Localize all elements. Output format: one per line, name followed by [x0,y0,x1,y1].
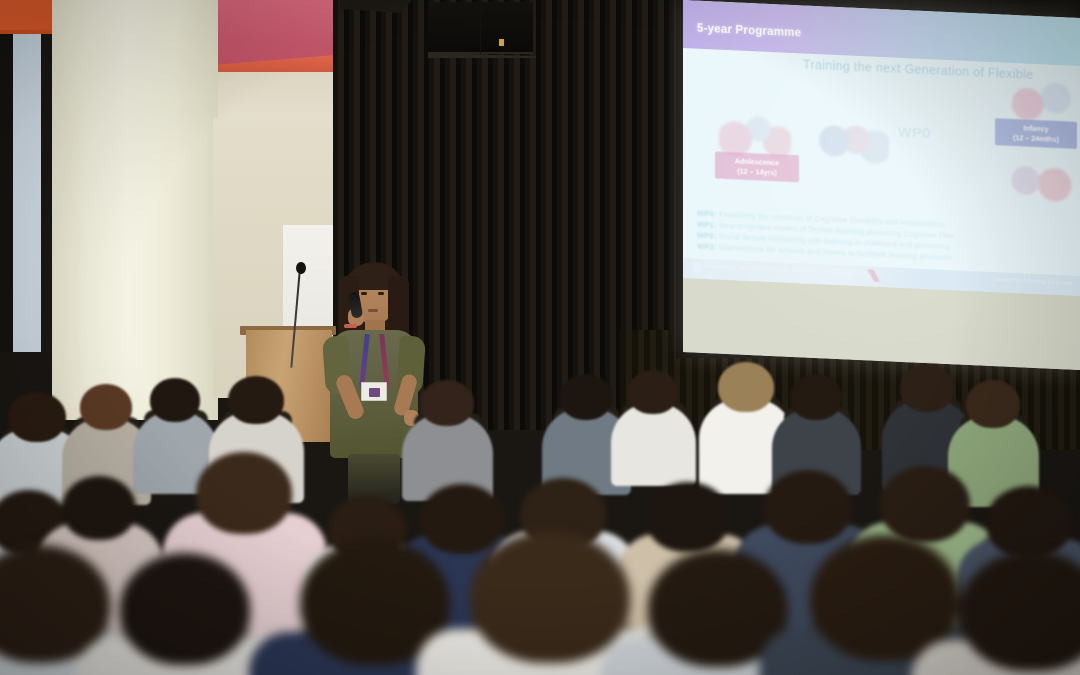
audience-member-head [560,374,612,420]
audience-member-head [80,384,132,430]
presenter-eye [378,292,384,295]
audience-member-head [228,376,284,424]
presenter-bracelet [344,324,357,328]
ceiling-speaker [481,2,533,54]
audience-member-head [718,362,774,412]
audience-member-head [966,380,1020,428]
audience-member-head [150,378,200,422]
audience-member-head [420,380,474,426]
badge-line-2: (12 – 14yrs) [721,165,793,178]
audience-member-head [628,370,678,414]
audience-member-head [900,364,954,412]
clipart-children [811,114,889,170]
clipart-infancy-bottom [1003,155,1079,206]
audience-member-head [960,551,1080,671]
slide-badge-infancy: Infancy (12 – 24mths) [995,118,1077,149]
projection-screen: 5-year Programme Training the next Gener… [683,0,1080,370]
window-mullion [0,28,13,352]
wp-tag: WP3: [697,242,717,252]
lecture-hall-photo: 5-year Programme Training the next Gener… [0,0,1080,675]
window-mullion [41,20,51,352]
presenter-eye [361,292,367,295]
audience-row-foreground [0,505,1080,675]
ceiling-speaker [428,2,480,54]
wp-tag: WP0: [697,209,717,219]
audience-member-head [120,553,250,665]
slide-badge-adolescence: Adolescence (12 – 14yrs) [715,151,799,182]
ntu-shield-icon [693,262,701,272]
wp-tag: WP1: [697,220,717,230]
slide-center-label: WP0 [898,124,931,142]
wp-tag: WP2: [697,231,717,241]
badge-line-2: (12 – 24mths) [1001,132,1071,145]
microphone-icon [296,262,306,274]
logo-swoosh-icon [861,269,887,282]
presenter-eyebrow [360,288,368,290]
presenter-mouth [368,309,378,312]
presentation-slide: 5-year Programme Training the next Gener… [683,0,1080,308]
audience-member-head [790,374,842,420]
audience-member-head [470,531,630,663]
presenter-eyebrow [377,288,385,290]
speaker-indicator-light [499,39,504,46]
